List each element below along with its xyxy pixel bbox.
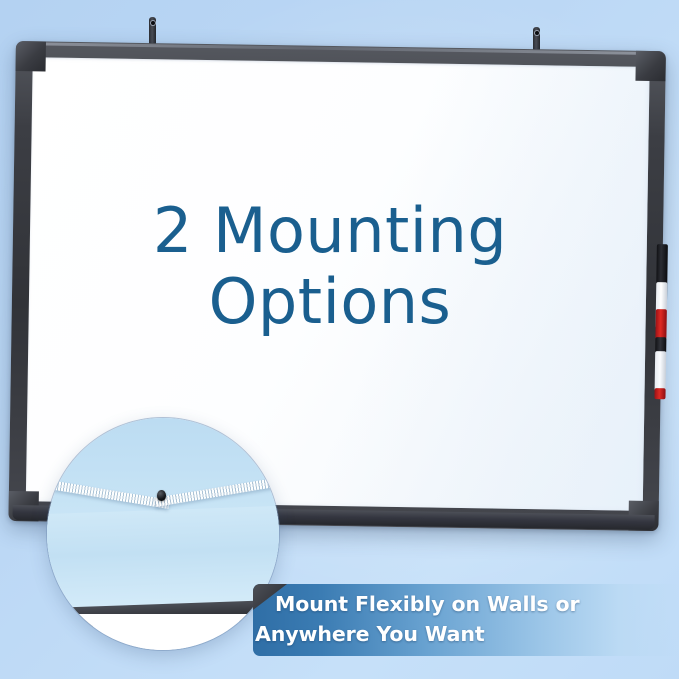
caption-text: Mount Flexibly on Walls or Anywhere You … — [275, 590, 605, 649]
marker-white-2 — [655, 351, 667, 391]
marker-red — [655, 309, 666, 339]
screw-hole-icon — [535, 31, 539, 35]
frame-corner-top-left — [16, 41, 46, 71]
caption-line-1: Mount Flexibly on Walls or — [275, 590, 605, 620]
caption-line-2: Anywhere You Want — [255, 620, 605, 650]
magnifier-detail-circle — [47, 418, 279, 650]
frame-corner-top-right — [635, 51, 665, 81]
caption-band: Mount Flexibly on Walls or Anywhere You … — [253, 584, 679, 656]
screw-hole-icon — [151, 21, 155, 25]
product-image-scene: 2 Mounting Options Mount Flexibly on Wal… — [0, 0, 679, 679]
headline: 2 Mounting Options — [60, 196, 600, 337]
marker-red-2 — [654, 388, 665, 399]
headline-line-2: Options — [60, 267, 600, 336]
magnifier-floor — [47, 614, 279, 650]
wall-hook-icon — [157, 490, 166, 501]
headline-line-1: 2 Mounting — [60, 196, 600, 265]
